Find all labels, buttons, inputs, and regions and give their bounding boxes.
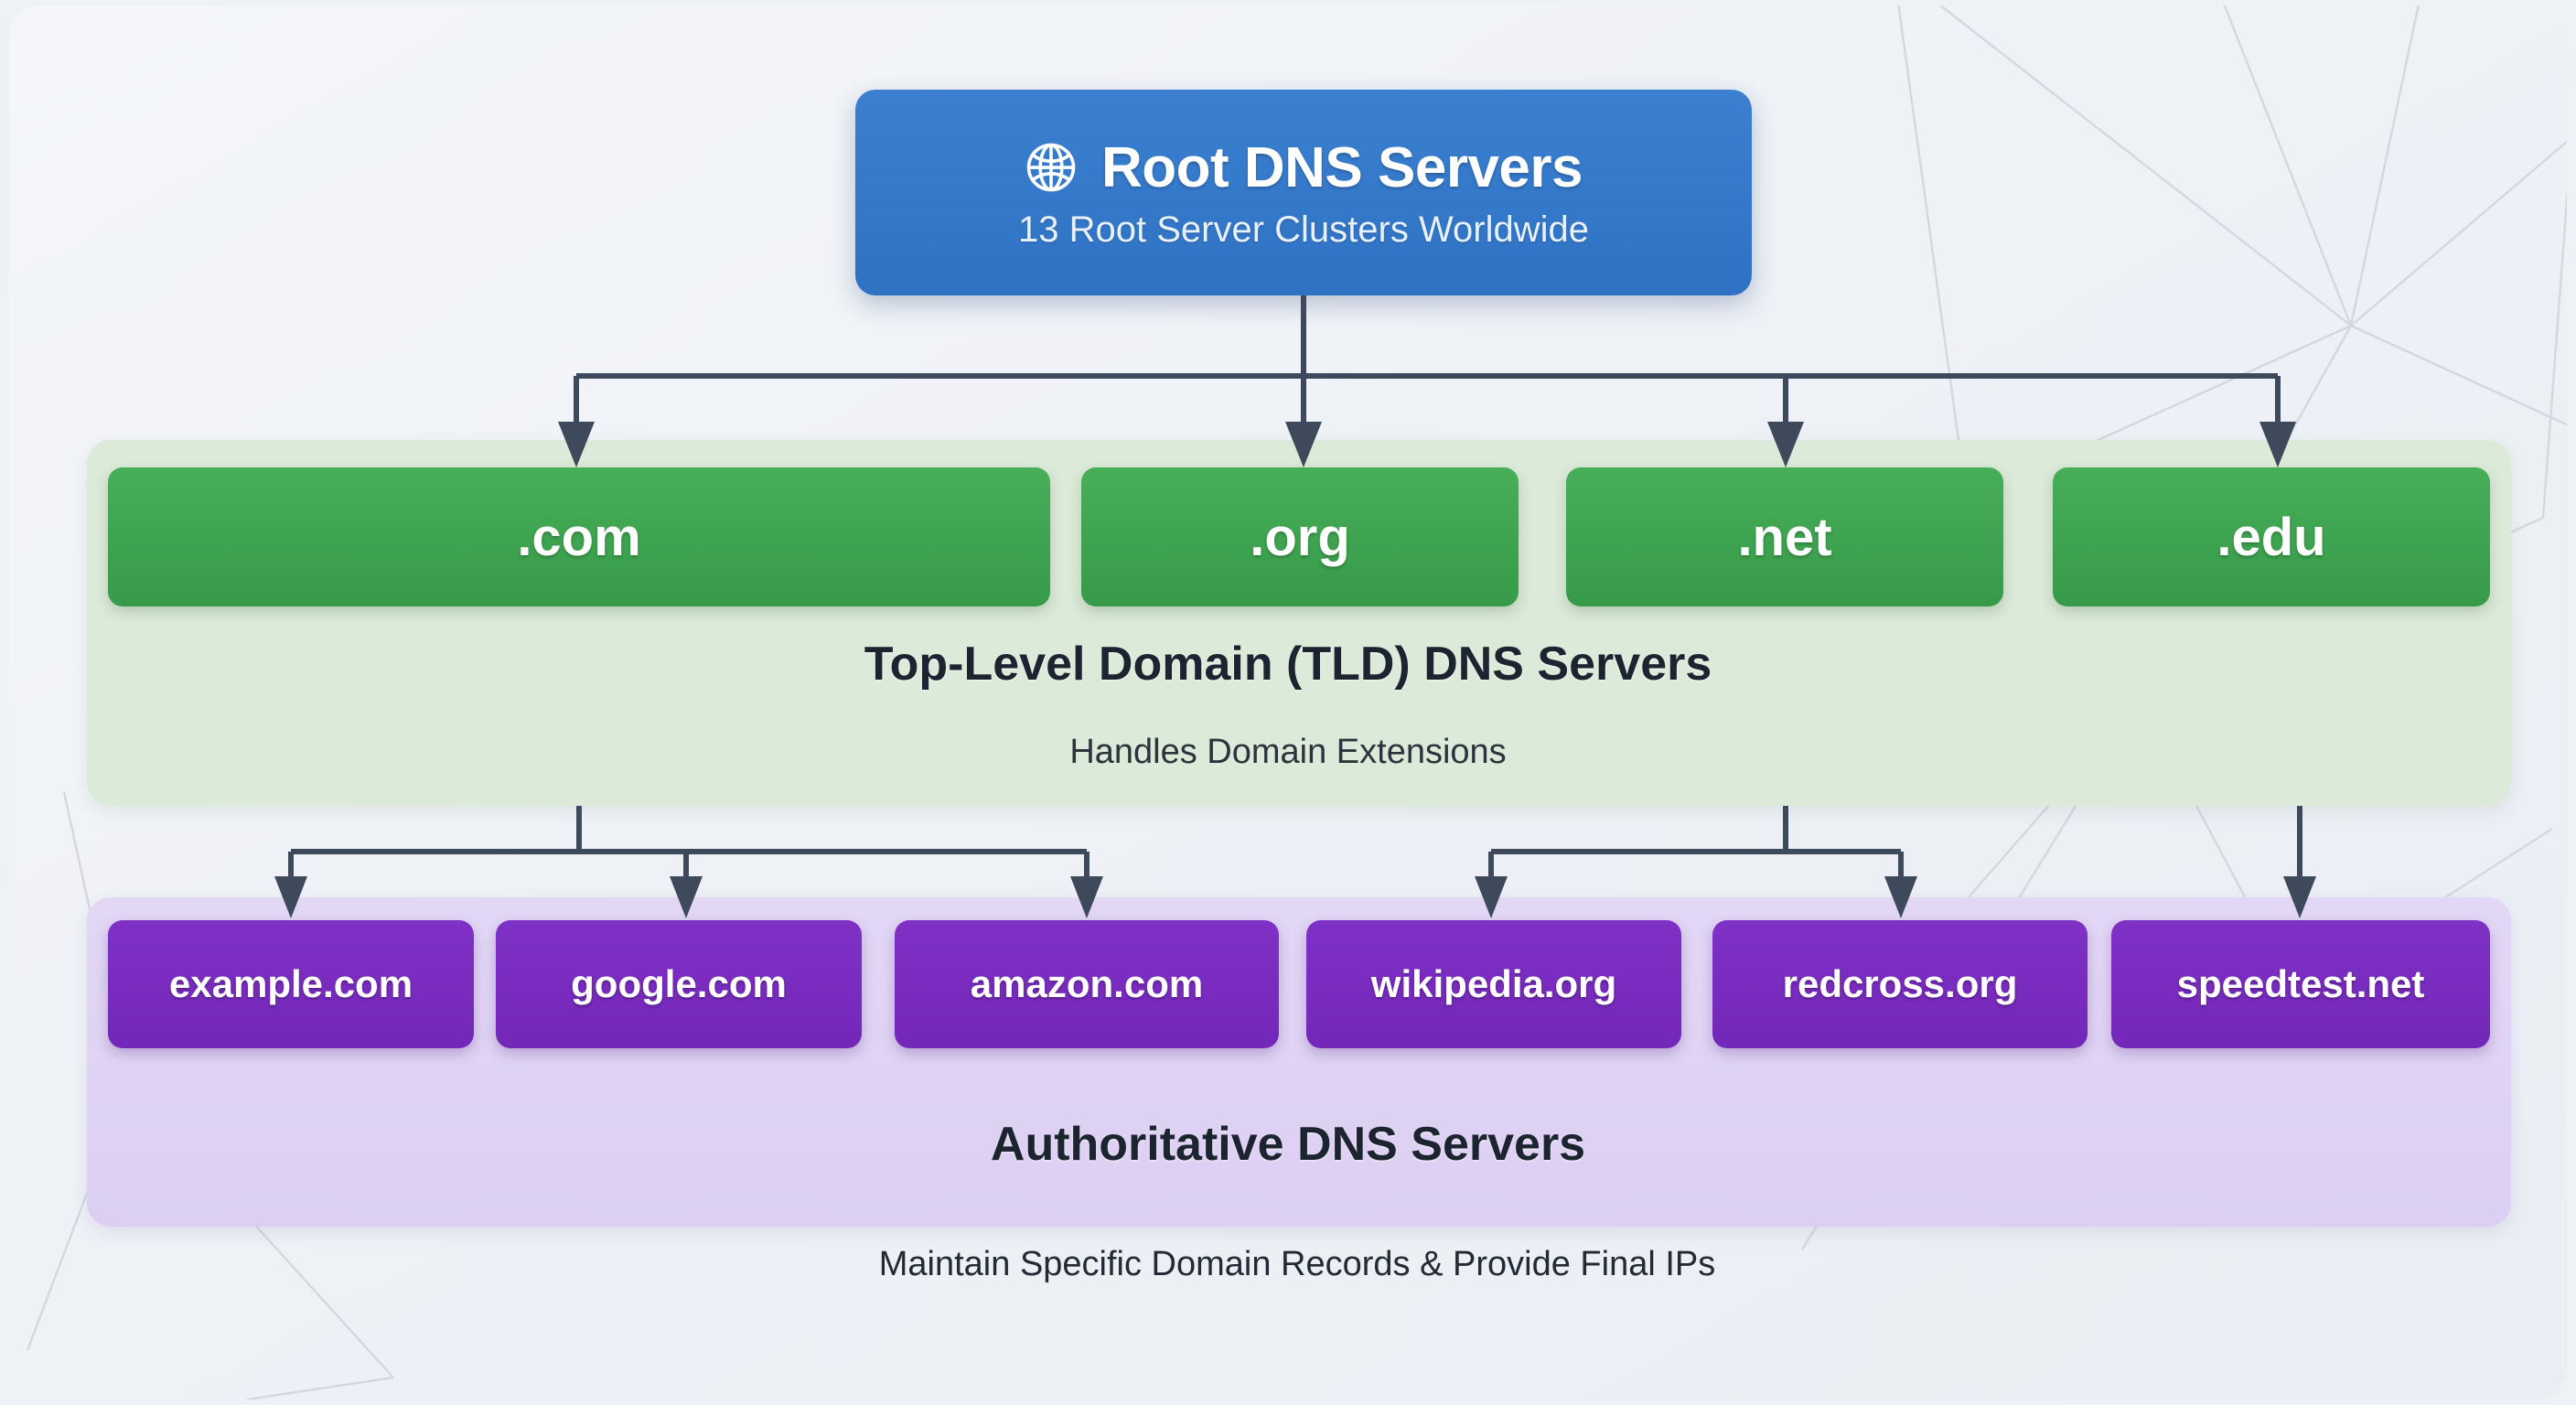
tld-chip-org[interactable]: .org — [1081, 467, 1519, 606]
tld-chip-edu[interactable]: .edu — [2053, 467, 2490, 606]
globe-icon — [1025, 141, 1078, 194]
diagram-caption: Maintain Specific Domain Records & Provi… — [9, 1245, 2567, 1284]
auth-chip-example-com[interactable]: example.com — [108, 920, 474, 1048]
tld-tier-subtitle: Handles Domain Extensions — [9, 733, 2567, 772]
connector-root-to-tld-bus — [576, 295, 2278, 376]
root-dns-servers-node[interactable]: Root DNS Servers 13 Root Server Clusters… — [855, 90, 1752, 295]
root-title-text: Root DNS Servers — [1101, 135, 1583, 200]
root-title-row: Root DNS Servers — [1025, 135, 1583, 200]
tld-chip-net[interactable]: .net — [1566, 467, 2003, 606]
tld-chip-com[interactable]: .com — [108, 467, 1050, 606]
connector-org-to-bus — [1491, 806, 1901, 852]
tld-tier-title: Top-Level Domain (TLD) DNS Servers — [9, 637, 2567, 692]
auth-chip-redcross-org[interactable]: redcross.org — [1712, 920, 2088, 1048]
auth-chip-wikipedia-org[interactable]: wikipedia.org — [1306, 920, 1681, 1048]
auth-chip-speedtest-net[interactable]: speedtest.net — [2111, 920, 2490, 1048]
connector-com-to-bus — [291, 806, 1087, 852]
root-subtitle: 13 Root Server Clusters Worldwide — [1018, 209, 1589, 251]
diagram-board: Root DNS Servers 13 Root Server Clusters… — [9, 5, 2567, 1400]
dns-hierarchy-diagram: Root DNS Servers 13 Root Server Clusters… — [0, 0, 2576, 1405]
authoritative-tier-title: Authoritative DNS Servers — [9, 1117, 2567, 1172]
auth-chip-google-com[interactable]: google.com — [496, 920, 862, 1048]
auth-chip-amazon-com[interactable]: amazon.com — [895, 920, 1279, 1048]
